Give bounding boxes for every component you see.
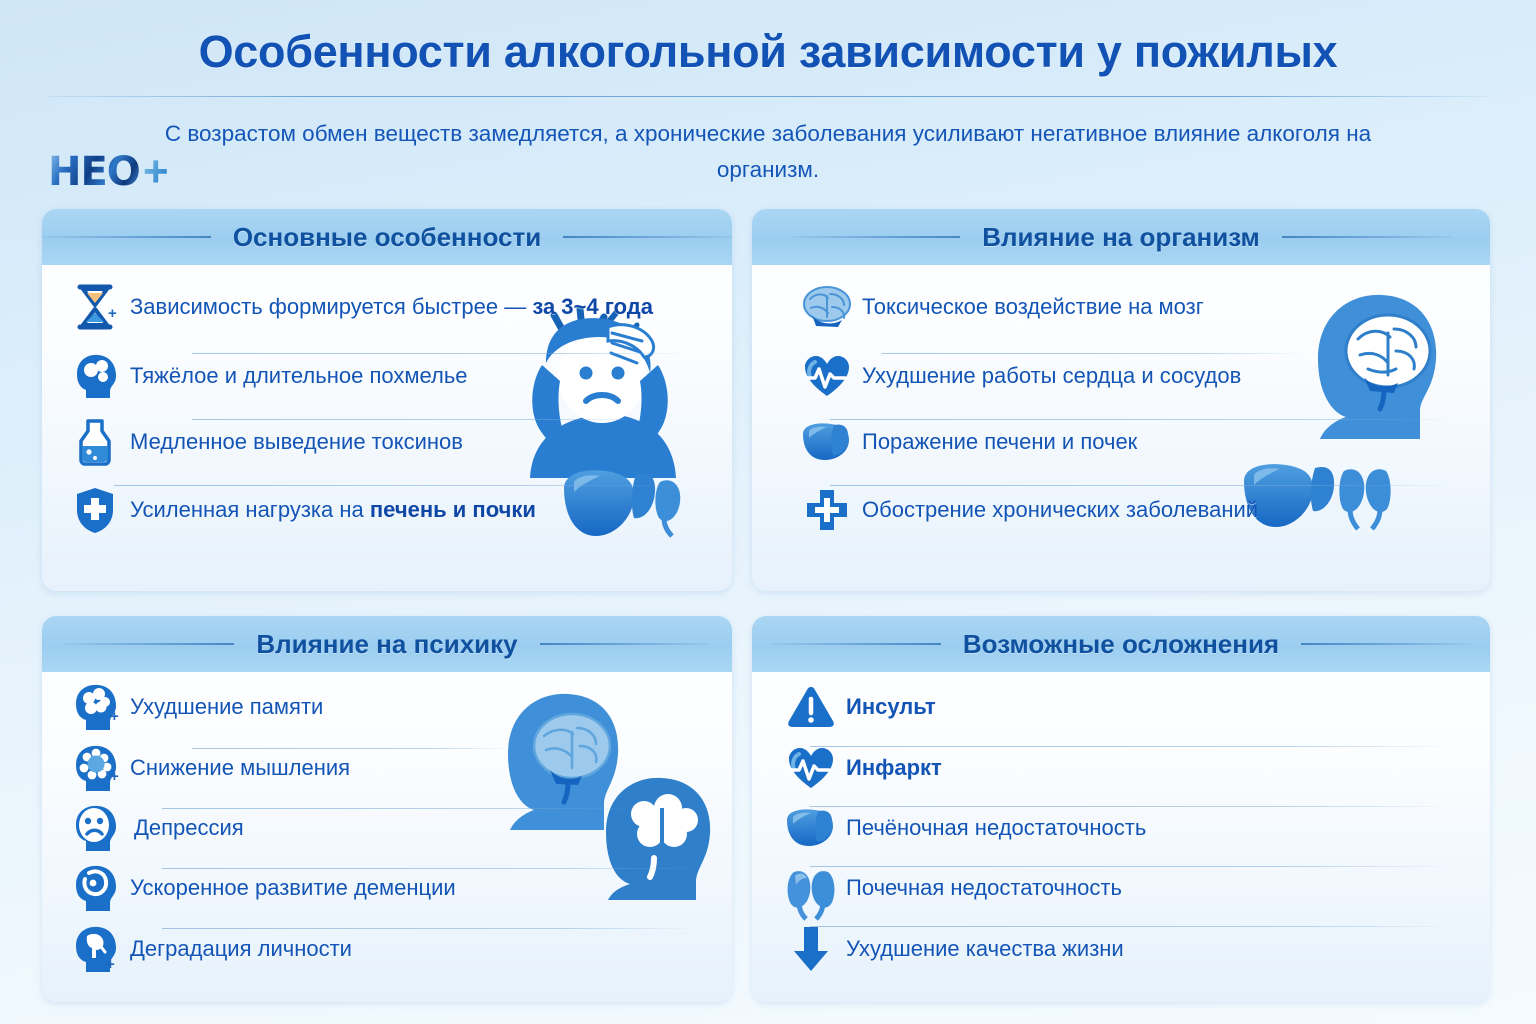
mind-row: Депрессия	[42, 798, 732, 858]
header-rule-left	[64, 643, 234, 645]
feature-row: Медленное выведение токсинов	[42, 409, 732, 475]
feature-label: Медленное выведение токсинов	[130, 429, 463, 455]
impact-label: Поражение печени и почек	[862, 429, 1137, 455]
infographic-canvas: Особенности алкогольной зависимости у по…	[0, 0, 1536, 1024]
impact-label: Ухудшение работы сердца и сосудов	[862, 363, 1241, 389]
mind-label: Депрессия	[134, 815, 244, 841]
header-rule-left	[771, 643, 941, 645]
complication-row: Почечная недостаточность	[752, 858, 1490, 918]
header-rule-right	[563, 236, 732, 238]
complication-label: Инфаркт	[846, 755, 942, 781]
title-divider	[48, 96, 1488, 97]
flask-toxins-icon	[68, 415, 122, 469]
brain-icon	[800, 280, 854, 334]
panel-title: Влияние на организм	[960, 222, 1281, 253]
page-subtitle: С возрастом обмен веществ замедляется, а…	[160, 116, 1376, 188]
impact-row: Ухудшение работы сердца и сосудов	[752, 343, 1490, 409]
head-sad-icon	[68, 801, 122, 855]
complication-row: Ухудшение качества жизни	[752, 918, 1490, 980]
panel-body: Токсическое воздействие на мозг Ухудшени…	[752, 271, 1490, 591]
page-title: Особенности алкогольной зависимости у по…	[0, 26, 1536, 78]
mind-row: + Снижение мышления	[42, 738, 732, 798]
head-hangover-icon	[68, 349, 122, 403]
panel-body: Инсульт Инфаркт	[752, 676, 1490, 1002]
complication-row: Инфаркт	[752, 738, 1490, 798]
liver-icon	[800, 415, 854, 469]
logo-plus-icon: +	[143, 154, 168, 189]
head-dementia-icon	[68, 861, 122, 915]
heart-pulse-icon	[784, 741, 838, 795]
complication-label: Ухудшение качества жизни	[846, 936, 1124, 962]
plus-badge-icon: +	[110, 708, 119, 725]
panel-header: Влияние на организм	[752, 209, 1490, 265]
impact-row: Поражение печени и почек	[752, 409, 1490, 475]
feature-row: + Зависимость формируется быстрее — за 3…	[42, 271, 732, 343]
feature-label: Зависимость формируется быстрее — за 3~4…	[130, 294, 653, 320]
mind-row: + Ухудшение памяти	[42, 676, 732, 738]
complication-row: Печёночная недостаточность	[752, 798, 1490, 858]
panel-mind-impact: Влияние на психику	[42, 616, 732, 1002]
panel-header: Основные особенности	[42, 209, 732, 265]
mind-label: Ухудшение памяти	[130, 694, 323, 720]
complication-row: Инсульт	[752, 676, 1490, 738]
down-arrow-icon	[784, 922, 838, 976]
shield-cross-icon	[68, 483, 122, 537]
feature-row: Усиленная нагрузка на печень и почки	[42, 475, 732, 545]
panel-main-features: Основные особенности	[42, 209, 732, 591]
header-rule-right	[1282, 236, 1452, 238]
mind-label: Ускоренное развитие деменции	[130, 875, 456, 901]
header-rule-left	[790, 236, 960, 238]
head-memory-icon	[68, 680, 122, 734]
panel-header: Возможные осложнения	[752, 616, 1490, 672]
heart-pulse-icon	[800, 349, 854, 403]
header-rule-right	[1301, 643, 1471, 645]
logo-word: НЕО	[48, 152, 140, 192]
panel-header: Влияние на психику	[42, 616, 732, 672]
panel-body: + Зависимость формируется быстрее — за 3…	[42, 271, 732, 591]
brand-logo: НЕО +	[48, 152, 168, 192]
kidney-icon	[784, 861, 838, 915]
mind-label: Снижение мышления	[130, 755, 350, 781]
impact-label: Токсическое воздействие на мозг	[862, 294, 1204, 320]
panel-complications: Возможные осложнения Инсульт	[752, 616, 1490, 1002]
plus-badge-icon: +	[110, 768, 119, 785]
header-rule-right	[540, 643, 710, 645]
panel-body-impact: Влияние на организм	[752, 209, 1490, 591]
liver-icon	[784, 801, 838, 855]
mind-label: Деградация личности	[130, 936, 352, 962]
impact-row: Токсическое воздействие на мозг	[752, 271, 1490, 343]
plus-badge-icon: +	[106, 956, 115, 973]
panel-title: Возможные осложнения	[941, 629, 1301, 660]
panel-body: + Ухудшение памяти	[42, 676, 732, 1002]
feature-row: Тяжёлое и длительное похмелье	[42, 343, 732, 409]
mind-row: + Деградация личности	[42, 918, 732, 980]
warning-triangle-icon	[784, 680, 838, 734]
plus-badge-icon: +	[108, 305, 117, 322]
complication-label: Печёночная недостаточность	[846, 815, 1146, 841]
impact-row: Обострение хронических заболеваний	[752, 475, 1490, 545]
mind-row: Ускоренное развитие деменции	[42, 858, 732, 918]
complication-label: Инсульт	[846, 694, 936, 720]
feature-label: Тяжёлое и длительное похмелье	[130, 363, 468, 389]
header-rule-left	[42, 236, 211, 238]
panel-title: Влияние на психику	[234, 629, 539, 660]
impact-label: Обострение хронических заболеваний	[862, 497, 1258, 523]
complication-label: Почечная недостаточность	[846, 875, 1122, 901]
panel-title: Основные особенности	[211, 222, 563, 253]
feature-label: Усиленная нагрузка на печень и почки	[130, 497, 536, 523]
medical-cross-icon	[800, 483, 854, 537]
